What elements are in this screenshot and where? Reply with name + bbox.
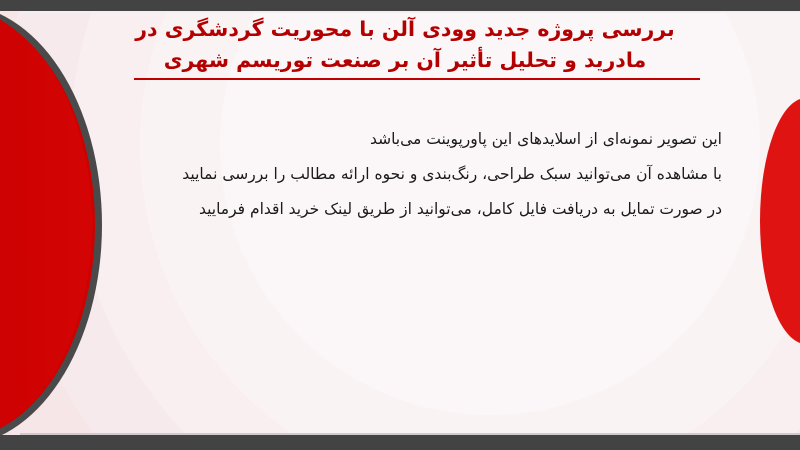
body-line-3: در صورت تمایل به دریافت فایل کامل، می‌تو… (82, 192, 722, 227)
presentation-slide: بررسی پروژه جدید وودی آلن با محوریت گردش… (0, 0, 800, 450)
title-underline (134, 78, 700, 80)
body-line-1: این تصویر نمونه‌ای از اسلایدهای این پاور… (82, 122, 722, 157)
body-line-2: با مشاهده آن می‌توانید سبک طراحی، رنگ‌بن… (82, 157, 722, 192)
slide-content: بررسی پروژه جدید وودی آلن با محوریت گردش… (0, 0, 800, 450)
slide-bottom-bar (0, 435, 800, 450)
slide-title-line-1: بررسی پروژه جدید وودی آلن با محوریت گردش… (110, 14, 700, 45)
slide-body-text: این تصویر نمونه‌ای از اسلایدهای این پاور… (82, 122, 722, 227)
slide-title: بررسی پروژه جدید وودی آلن با محوریت گردش… (110, 14, 700, 76)
slide-title-line-2: مادرید و تحلیل تأثیر آن بر صنعت توریسم ش… (110, 45, 700, 76)
slide-top-bar (0, 0, 800, 11)
